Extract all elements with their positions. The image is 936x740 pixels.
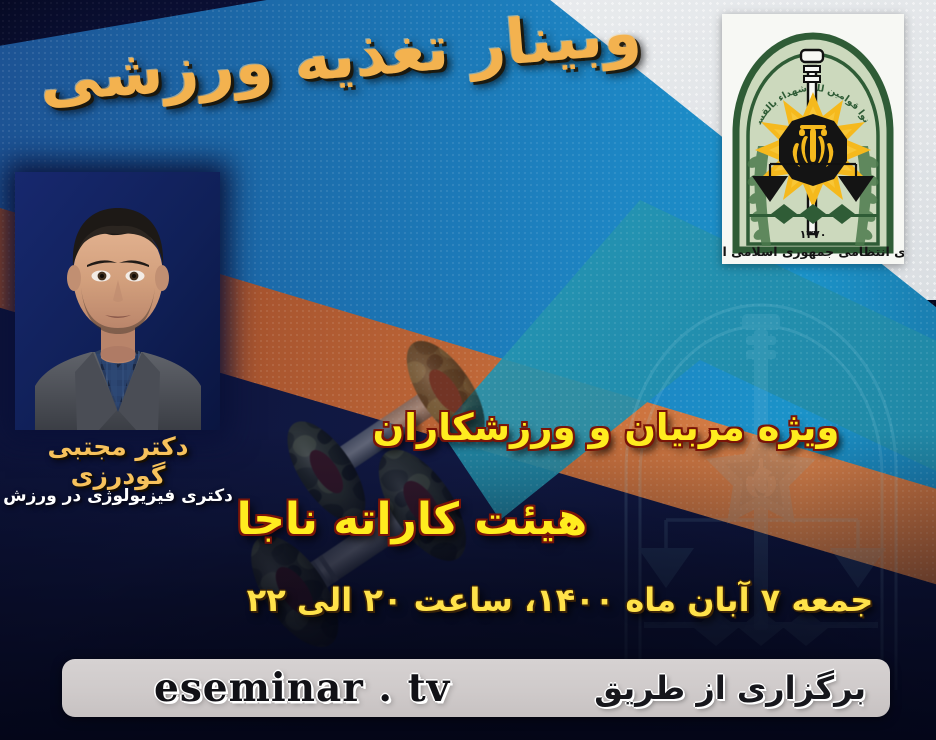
date-time-line: جمعه ۷ آبان ماه ۱۴۰۰، ساعت ۲۰ الی ۲۲ [230, 581, 890, 619]
footer-bar: برگزاری از طریق eseminar . tv [62, 659, 890, 717]
webinar-poster: کونوا قوامین لله شهداء بالقسط [0, 0, 936, 740]
naja-emblem-icon: کونوا قوامین لله شهداء بالقسط [722, 14, 904, 264]
audience-line: ویژه مربیان و ورزشکاران [300, 406, 912, 449]
naja-emblem-watermark-icon [596, 270, 926, 690]
website-link[interactable]: eseminar . tv [154, 665, 450, 711]
held-via-label: برگزاری از طریق [594, 669, 866, 707]
organizer-line: هیئت کاراته ناجا [190, 494, 634, 545]
speaker-portrait-photo [15, 172, 220, 430]
emblem-organization: نیروی انتظامی جمهوری اسلامی ایران [722, 244, 904, 259]
emblem-year: ۱۳۷۰ [800, 228, 827, 241]
speaker-name: دکتر مجتبی گودرزی [0, 432, 236, 490]
